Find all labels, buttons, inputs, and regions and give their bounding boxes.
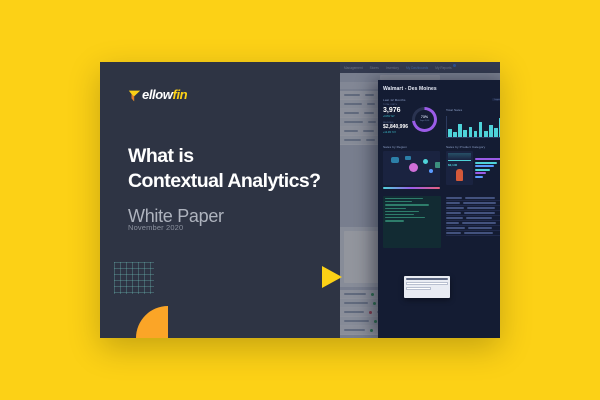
popup-input-field-secondary[interactable] <box>406 287 431 290</box>
quarter-circle-decoration <box>136 306 168 338</box>
kpi-caption-units: TOTAL UNITS <box>383 104 408 106</box>
category-bar-list <box>475 151 500 185</box>
popup-title <box>406 278 448 280</box>
last-12-months-panel: Last 12 Months TOTAL UNITS 3,976 +6.8% Y… <box>383 98 440 138</box>
category-spark-card: $2,140 <box>446 151 473 185</box>
grid-decoration <box>114 262 154 294</box>
publication-date: November 2020 <box>128 223 183 232</box>
kpi-value-units: 3,976 <box>383 107 408 114</box>
panel-label-sales-by-region: Sales by Region <box>383 145 440 149</box>
whitepaper-cover-card: Management Stores Inventory My Dashboard… <box>100 62 500 338</box>
kpi-delta-revenue: +12.4% YoY <box>383 131 408 134</box>
dashboard-row-bottom <box>383 196 500 248</box>
gauge-donut-chart: 73% Target 3,400 <box>412 107 437 132</box>
contextual-popup-dialog[interactable] <box>404 276 450 298</box>
contextual-dashboard-panel: Walmart - Des Moines Last 12 Months TOTA… <box>378 80 500 338</box>
gauge-sublabel: Target 3,400 <box>420 120 429 122</box>
region-map-chart <box>383 151 440 185</box>
region-color-scale <box>383 187 440 189</box>
logo-text-main: ellow <box>142 87 173 102</box>
list-item[interactable] <box>446 231 500 236</box>
kpi-delta-units: +6.8% YoY <box>383 115 408 118</box>
total-sales-panel: Total Sales Legend <box>446 98 500 138</box>
gauge-percent: 73% <box>421 116 428 120</box>
code-editor-panel[interactable] <box>383 196 441 248</box>
dashboard-title: Walmart - Des Moines <box>383 86 500 92</box>
panel-label-product-category: Sales by Product Category <box>446 145 500 149</box>
page-title-line-1: What is <box>128 144 333 169</box>
sales-by-product-category-panel: Sales by Product Category $2,140 <box>446 145 500 189</box>
yellowfin-logo: ellowfin <box>128 88 187 101</box>
person-pictogram-icon <box>456 169 463 181</box>
dashboard-row-top: Last 12 Months TOTAL UNITS 3,976 +6.8% Y… <box>383 98 500 138</box>
detail-list <box>446 196 500 248</box>
page-title-line-2: Contextual Analytics? <box>128 169 333 194</box>
sparkline-chart <box>448 153 471 161</box>
logo-text-accent: fin <box>173 87 188 102</box>
panel-label-last-12-months: Last 12 Months <box>383 98 440 102</box>
kpi-value-revenue: $2,840,996 <box>383 125 408 130</box>
sales-by-region-panel: Sales by Region <box>383 145 440 189</box>
category-value: $2,140 <box>448 163 471 167</box>
product-screenshot-area: Management Stores Inventory My Dashboard… <box>340 62 500 338</box>
yellowfin-y-mark-icon <box>128 89 141 102</box>
total-sales-bar-chart <box>446 116 500 138</box>
cover-text-panel: ellowfin What is Contextual Analytics? W… <box>100 62 340 338</box>
product-category-chart: $2,140 <box>446 151 500 185</box>
popup-input-field[interactable] <box>406 282 448 285</box>
panel-label-total-sales: Total Sales <box>446 108 462 112</box>
triangle-decoration <box>322 266 342 288</box>
dashboard-row-middle: Sales by Region Sales by Product Categor… <box>383 145 500 189</box>
chart-legend-button[interactable]: Legend <box>492 98 500 101</box>
title-block: What is Contextual Analytics? White Pape… <box>128 144 333 228</box>
yellowfin-wordmark: ellowfin <box>142 88 187 101</box>
